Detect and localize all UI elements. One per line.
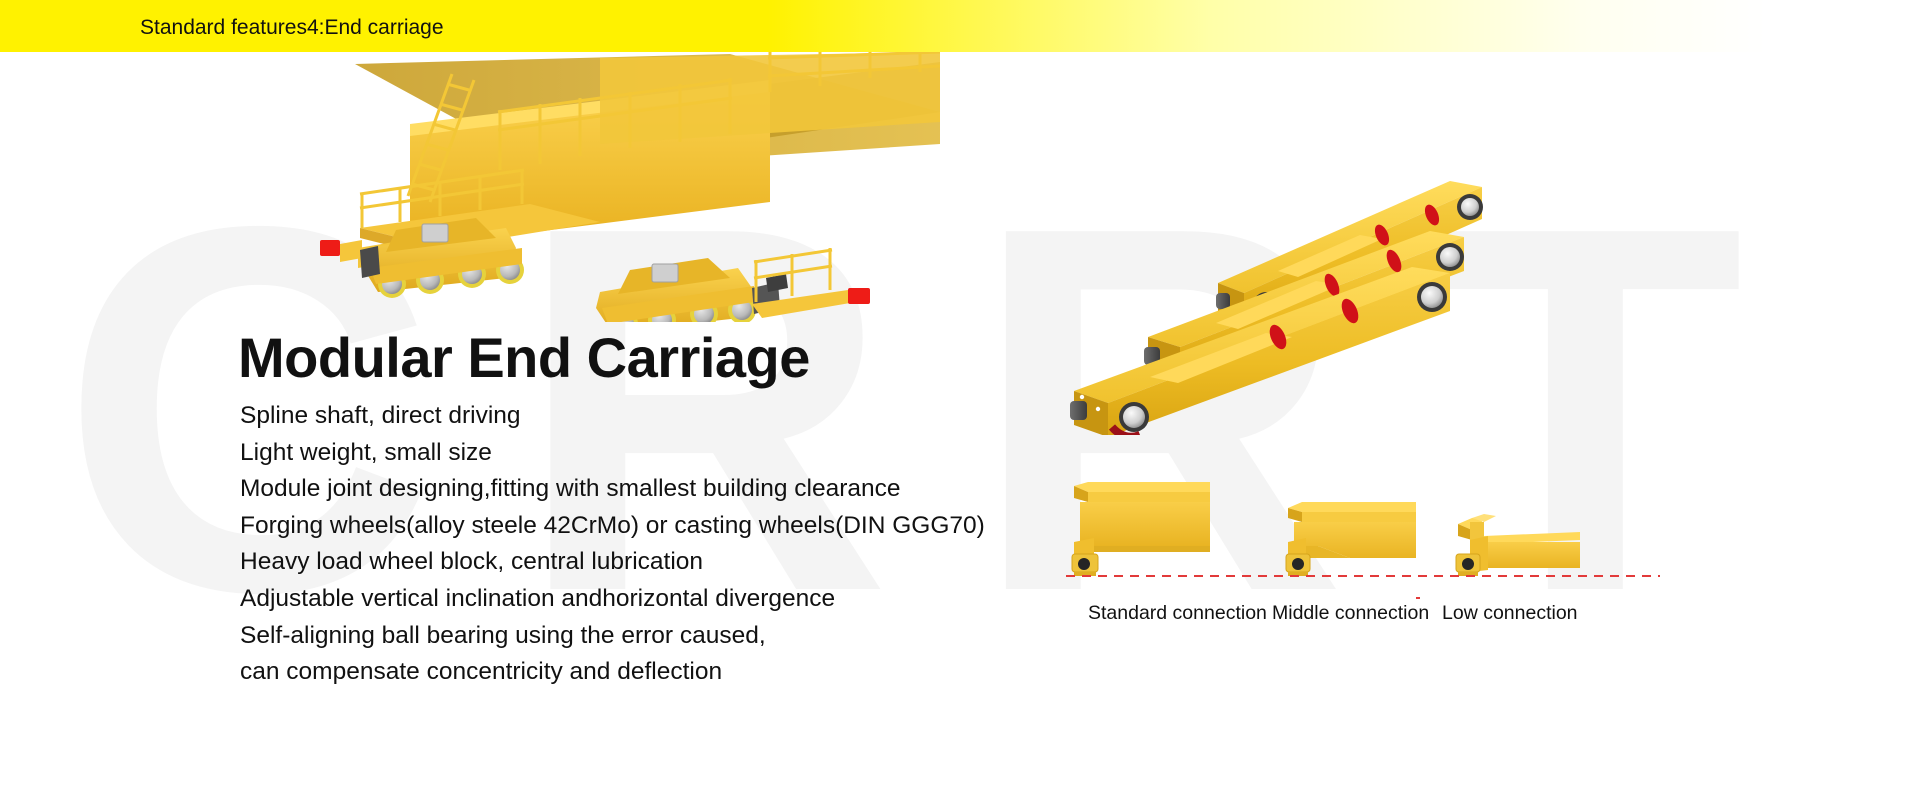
feature-item: Module joint designing,fitting with smal… xyxy=(240,471,985,508)
connection-profile-low xyxy=(1456,514,1580,576)
caption-middle-connection: Middle connection xyxy=(1272,602,1429,625)
connection-diagrams: Standard connection Middle connection Lo… xyxy=(1060,480,1700,650)
feature-item: Spline shaft, direct driving xyxy=(240,398,985,435)
header-title: Standard features4:End carriage xyxy=(140,16,444,40)
feature-list: Spline shaft, direct driving Light weigh… xyxy=(240,398,985,691)
page-title: Modular End Carriage xyxy=(238,325,810,390)
connection-profile-middle xyxy=(1286,502,1416,576)
feature-item: Heavy load wheel block, central lubricat… xyxy=(240,544,985,581)
slide-root: CRRT xyxy=(0,0,1920,800)
feature-item: can compensate concentricity and deflect… xyxy=(240,654,985,691)
caption-standard-connection: Standard connection xyxy=(1088,602,1267,625)
feature-item: Light weight, small size xyxy=(240,435,985,472)
feature-item: Adjustable vertical inclination andhoriz… xyxy=(240,581,985,618)
feature-item: Forging wheels(alloy steele 42CrMo) or c… xyxy=(240,508,985,545)
header-banner: Standard features4:End carriage xyxy=(0,0,1920,52)
end-carriage-beams-render xyxy=(1030,165,1650,435)
connection-profile-standard xyxy=(1072,482,1210,576)
caption-low-connection: Low connection xyxy=(1442,602,1578,625)
feature-item: Self-aligning ball bearing using the err… xyxy=(240,618,985,655)
crane-render xyxy=(300,52,940,322)
